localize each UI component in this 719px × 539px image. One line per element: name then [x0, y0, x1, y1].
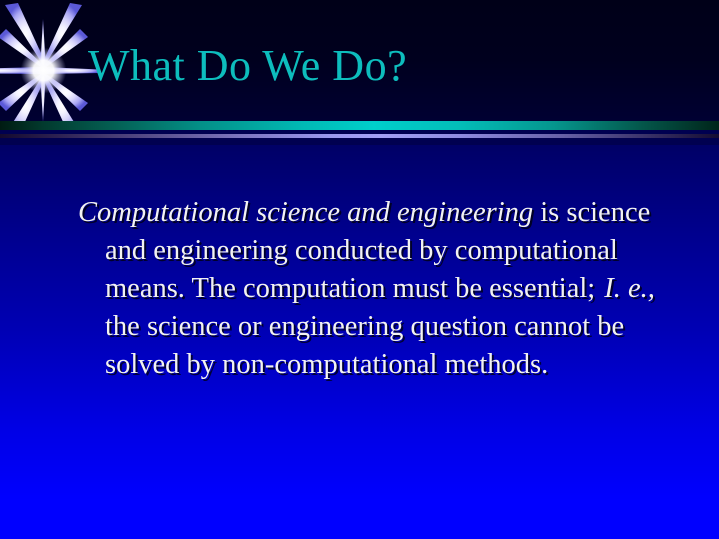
- page-title: What Do We Do?: [88, 38, 688, 94]
- body-emphasis-1: Computational science and engineering: [78, 197, 533, 228]
- title-zone: What Do We Do?: [0, 0, 719, 120]
- divider-cyan-bar: [0, 121, 719, 130]
- slide: What Do We Do? Computational science and…: [0, 0, 719, 539]
- divider-underfill: [0, 138, 719, 145]
- body-paragraph: Computational science and engineering is…: [78, 194, 665, 384]
- body-run-2: the science or engineering question cann…: [105, 311, 624, 380]
- body-emphasis-2: I. e.,: [604, 273, 655, 304]
